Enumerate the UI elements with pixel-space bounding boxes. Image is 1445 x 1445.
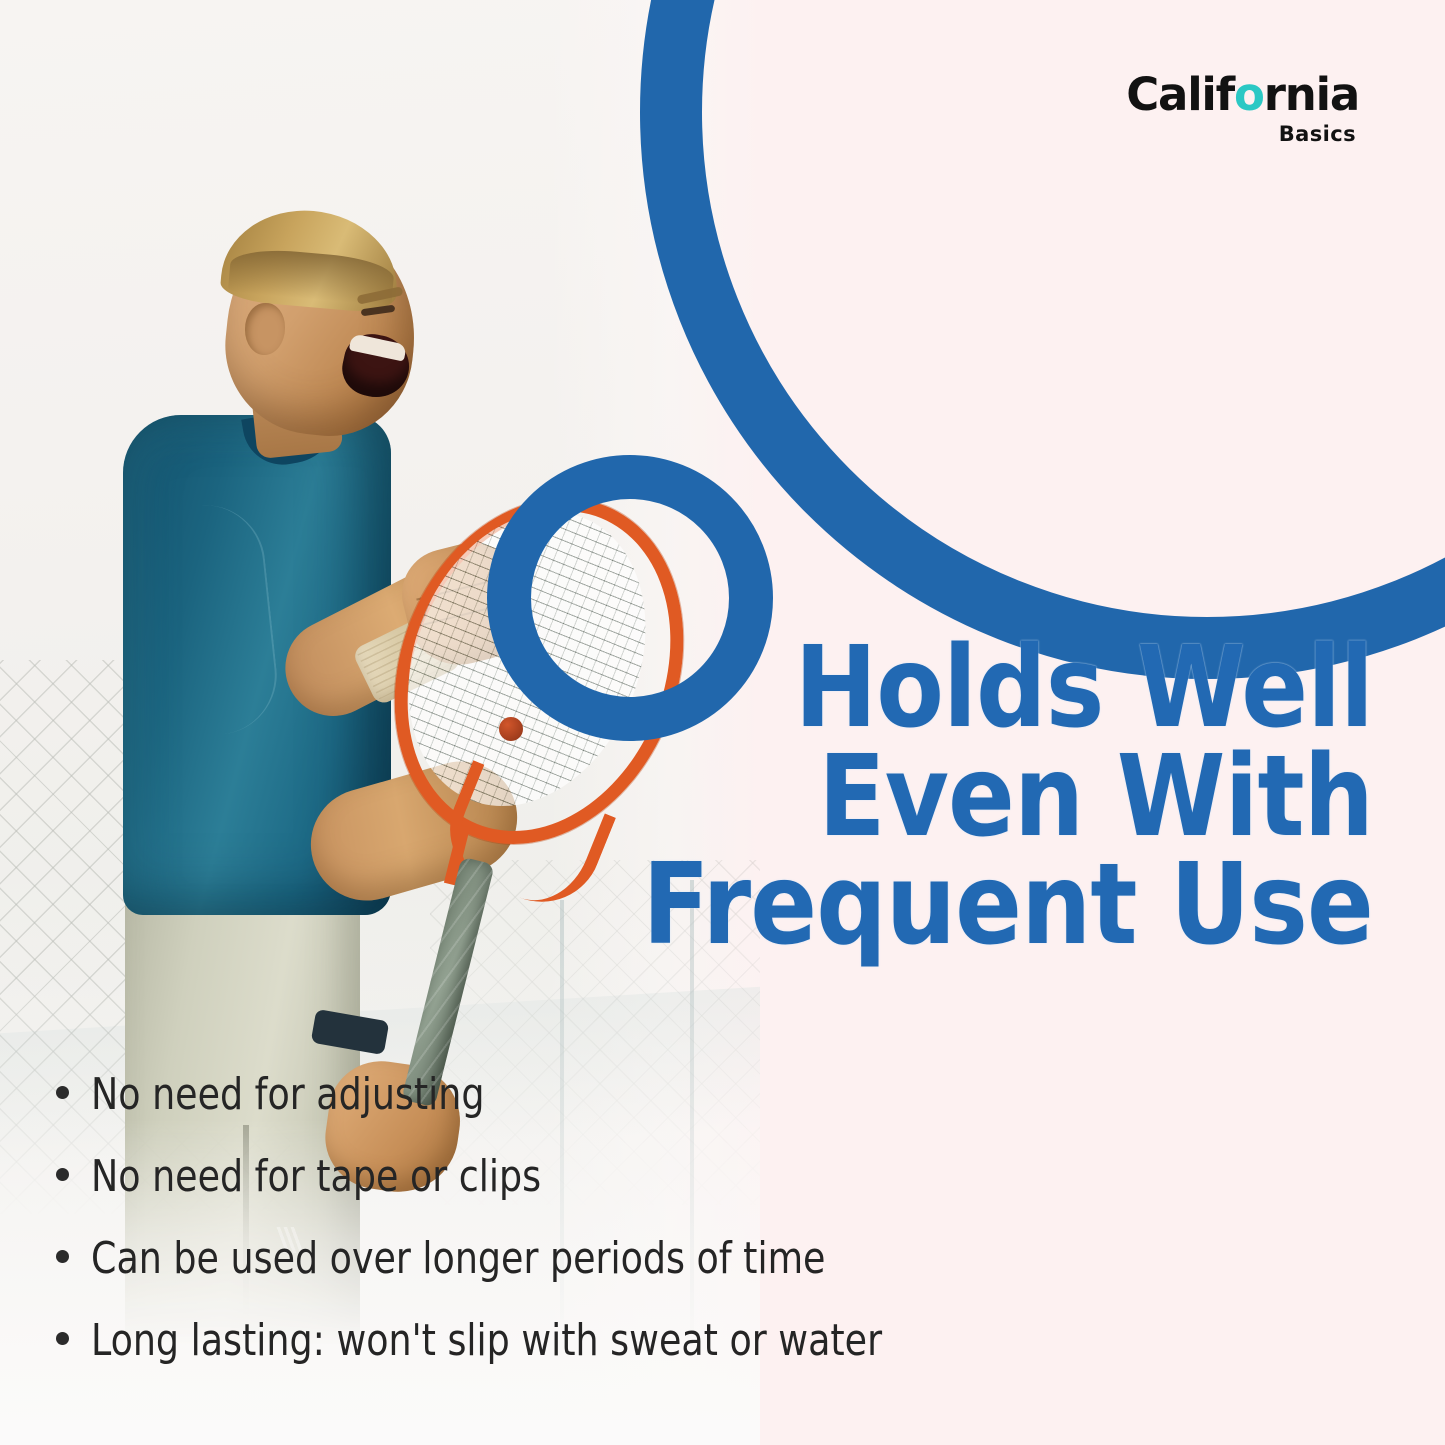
headline: Holds Well Even With Frequent Use xyxy=(599,634,1373,960)
headline-line-3: Frequent Use xyxy=(599,851,1373,960)
brand-logo-o-glyph: o xyxy=(1234,68,1264,121)
promo-banner: California Basics Holds Well Even With F… xyxy=(0,0,1445,1445)
bullet-dot-icon xyxy=(56,1168,69,1181)
brand-logo-name: California xyxy=(1126,72,1359,117)
headline-line-1: Holds Well xyxy=(599,634,1373,743)
bullet-text: No need for tape or clips xyxy=(91,1155,541,1199)
bullet-text: Long lasting: won't slip with sweat or w… xyxy=(91,1319,882,1363)
list-item: Can be used over longer periods of time xyxy=(56,1237,1386,1319)
list-item: Long lasting: won't slip with sweat or w… xyxy=(56,1319,1386,1401)
headline-line-2: Even With xyxy=(599,743,1373,852)
brand-logo-name-part1: Calif xyxy=(1126,68,1234,121)
bullet-text: No need for adjusting xyxy=(91,1073,485,1117)
list-item: No need for tape or clips xyxy=(56,1155,1386,1237)
feature-bullet-list: No need for adjusting No need for tape o… xyxy=(56,1073,1386,1401)
brand-logo[interactable]: California Basics xyxy=(1126,72,1359,145)
brand-logo-tagline: Basics xyxy=(1126,124,1356,145)
brand-logo-name-part2: rnia xyxy=(1264,68,1359,121)
bullet-dot-icon xyxy=(56,1250,69,1263)
racket-dampener xyxy=(499,717,523,741)
bullet-text: Can be used over longer periods of time xyxy=(91,1237,825,1281)
bullet-dot-icon xyxy=(56,1086,69,1099)
bullet-dot-icon xyxy=(56,1332,69,1345)
list-item: No need for adjusting xyxy=(56,1073,1386,1155)
